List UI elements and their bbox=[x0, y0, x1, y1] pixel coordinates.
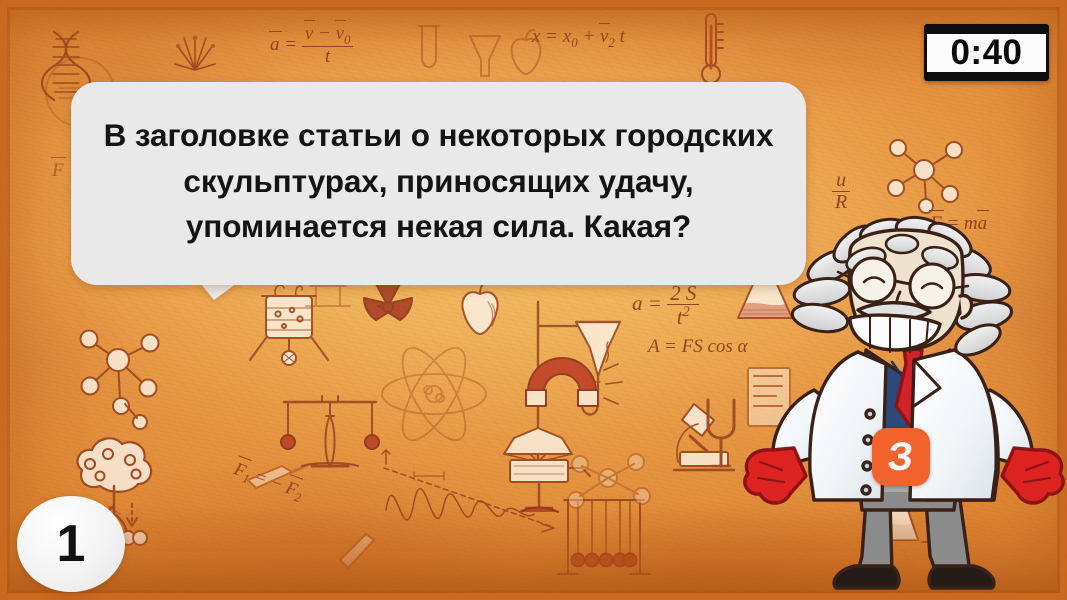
question-number-badge: 1 bbox=[17, 496, 125, 592]
right-glove bbox=[1002, 448, 1063, 503]
countdown-timer: 0:40 bbox=[924, 24, 1049, 81]
coat-button-3 bbox=[863, 462, 871, 470]
timer-display: 0:40 bbox=[927, 34, 1046, 72]
right-shoe bbox=[929, 566, 994, 588]
timer-value: 0:40 bbox=[950, 35, 1022, 70]
coat-button-4 bbox=[862, 486, 870, 494]
question-number-value: 1 bbox=[57, 518, 86, 570]
background-top-edge bbox=[0, 0, 1067, 42]
zen-logo-glyph: З bbox=[886, 437, 915, 477]
question-text: В заголовке статьи о некоторых городских… bbox=[97, 113, 780, 250]
left-shoe bbox=[834, 566, 899, 588]
left-glove bbox=[745, 448, 806, 503]
coat-button-1 bbox=[866, 410, 874, 418]
zen-logo: З bbox=[872, 428, 930, 486]
quiz-slide: a = v − v0t x = x0 + v2 t a = 2 St2 A = … bbox=[0, 0, 1067, 600]
coat-button-2 bbox=[864, 436, 872, 444]
ear bbox=[960, 296, 972, 318]
question-bubble: В заголовке статьи о некоторых городских… bbox=[71, 82, 806, 285]
